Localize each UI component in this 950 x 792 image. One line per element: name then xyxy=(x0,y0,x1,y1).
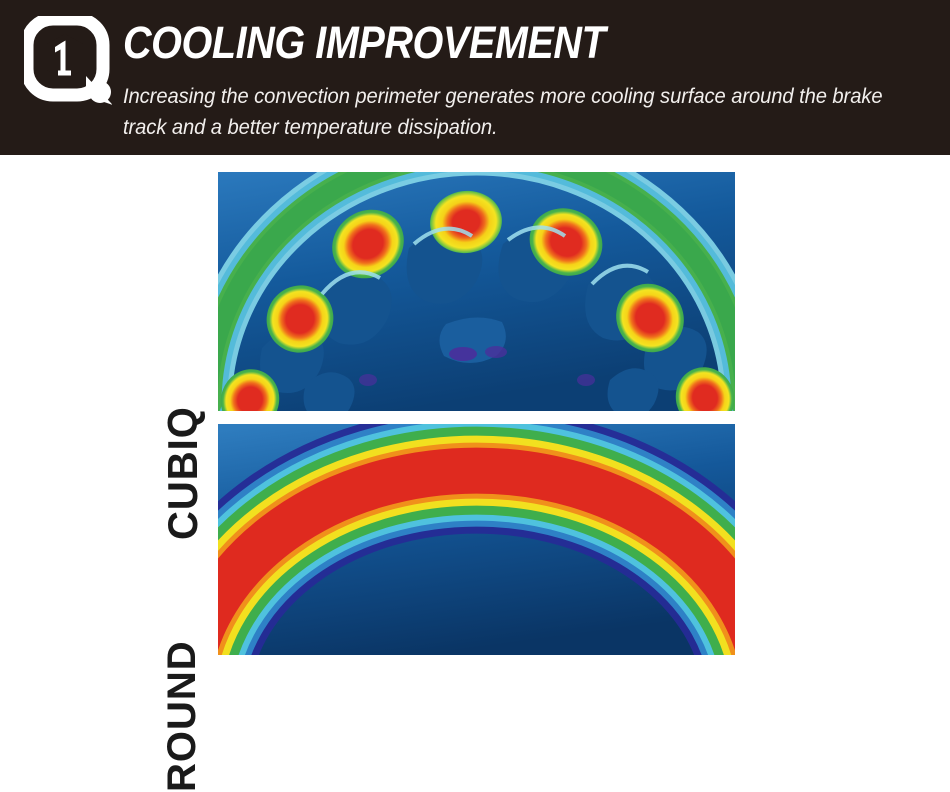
panel-label-round: ROUND xyxy=(160,640,205,792)
header-bar: COOLING IMPROVEMENT Increasing the conve… xyxy=(0,0,950,155)
thermal-simulation-round-image xyxy=(218,424,735,655)
header-text-block: COOLING IMPROVEMENT Increasing the conve… xyxy=(123,17,933,143)
comparison-content-area: CUBIQ ROUND xyxy=(0,155,950,672)
page-subtitle: Increasing the convection perimeter gene… xyxy=(123,81,884,143)
numbered-speech-bubble-badge-icon xyxy=(24,16,116,108)
thermal-panel-cubiq xyxy=(218,172,735,411)
panel-label-cubiq: CUBIQ xyxy=(160,406,207,540)
page-title: COOLING IMPROVEMENT xyxy=(123,17,836,69)
thermal-panel-round xyxy=(218,424,735,655)
step-number-badge xyxy=(24,16,116,108)
thermal-simulation-cubiq-image xyxy=(218,172,735,411)
